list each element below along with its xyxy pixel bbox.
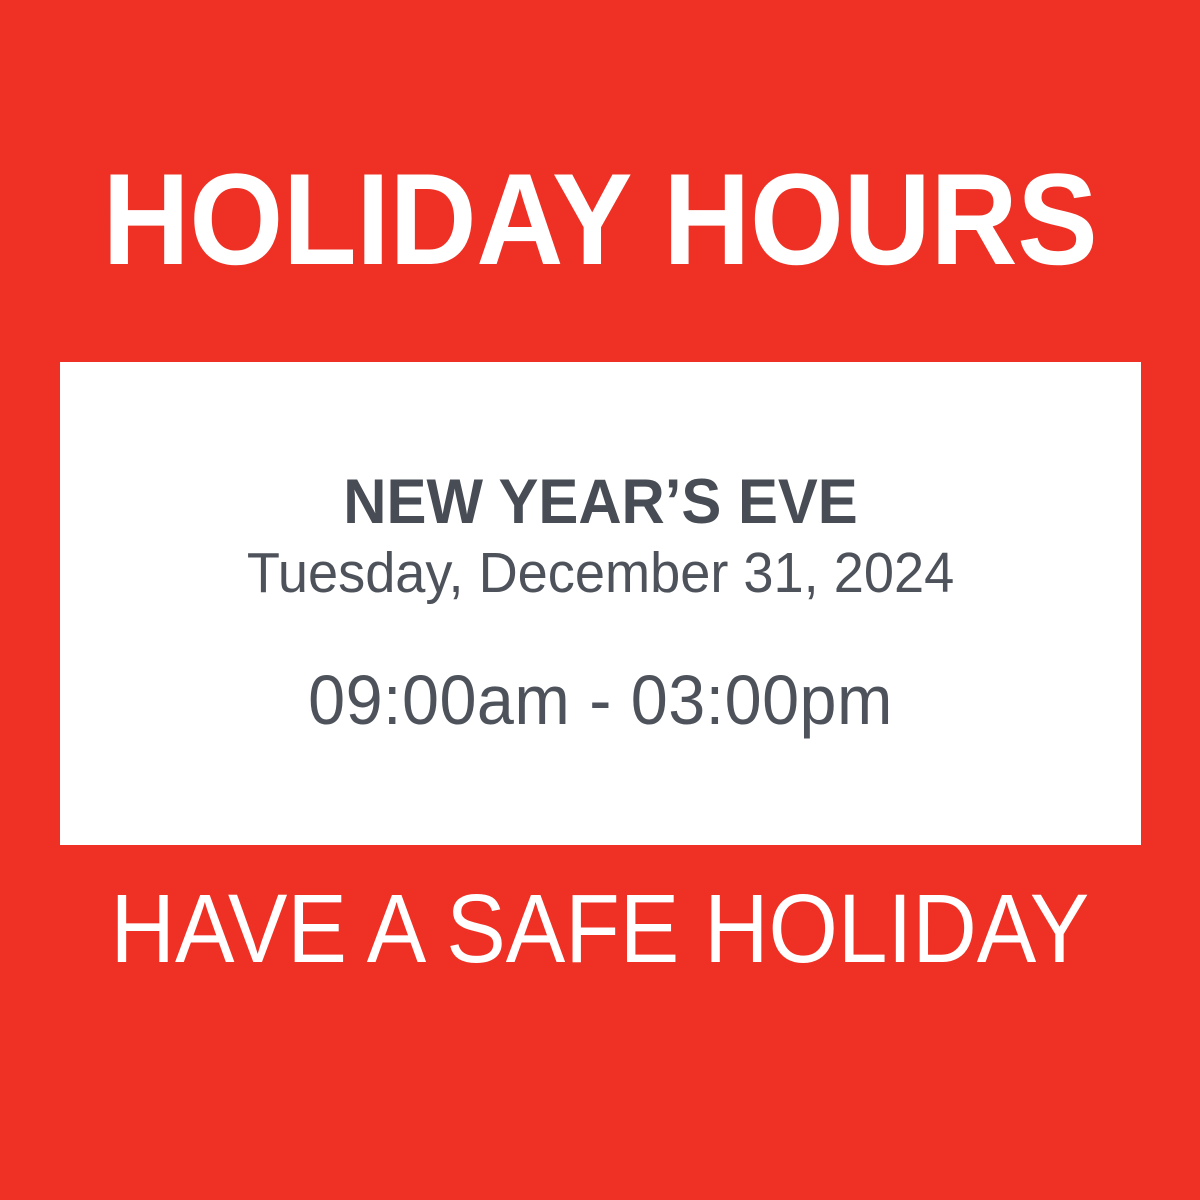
headline-text: HOLIDAY HOURS bbox=[103, 157, 1098, 282]
holiday-detail-card: NEW YEAR’S EVE Tuesday, December 31, 202… bbox=[60, 362, 1141, 845]
holiday-date: Tuesday, December 31, 2024 bbox=[87, 542, 1114, 605]
holiday-hours-poster: HOLIDAY HOURS NEW YEAR’S EVE Tuesday, De… bbox=[0, 0, 1200, 1200]
holiday-name: NEW YEAR’S EVE bbox=[87, 468, 1114, 536]
hours-spacer bbox=[60, 605, 1141, 663]
footer-message: HAVE A SAFE HOLIDAY bbox=[111, 880, 1090, 977]
poster-headline: HOLIDAY HOURS bbox=[0, 0, 1200, 300]
holiday-hours: 09:00am - 03:00pm bbox=[87, 663, 1114, 739]
card-content: NEW YEAR’S EVE Tuesday, December 31, 202… bbox=[60, 468, 1141, 738]
poster-footer: HAVE A SAFE HOLIDAY bbox=[0, 880, 1200, 1060]
